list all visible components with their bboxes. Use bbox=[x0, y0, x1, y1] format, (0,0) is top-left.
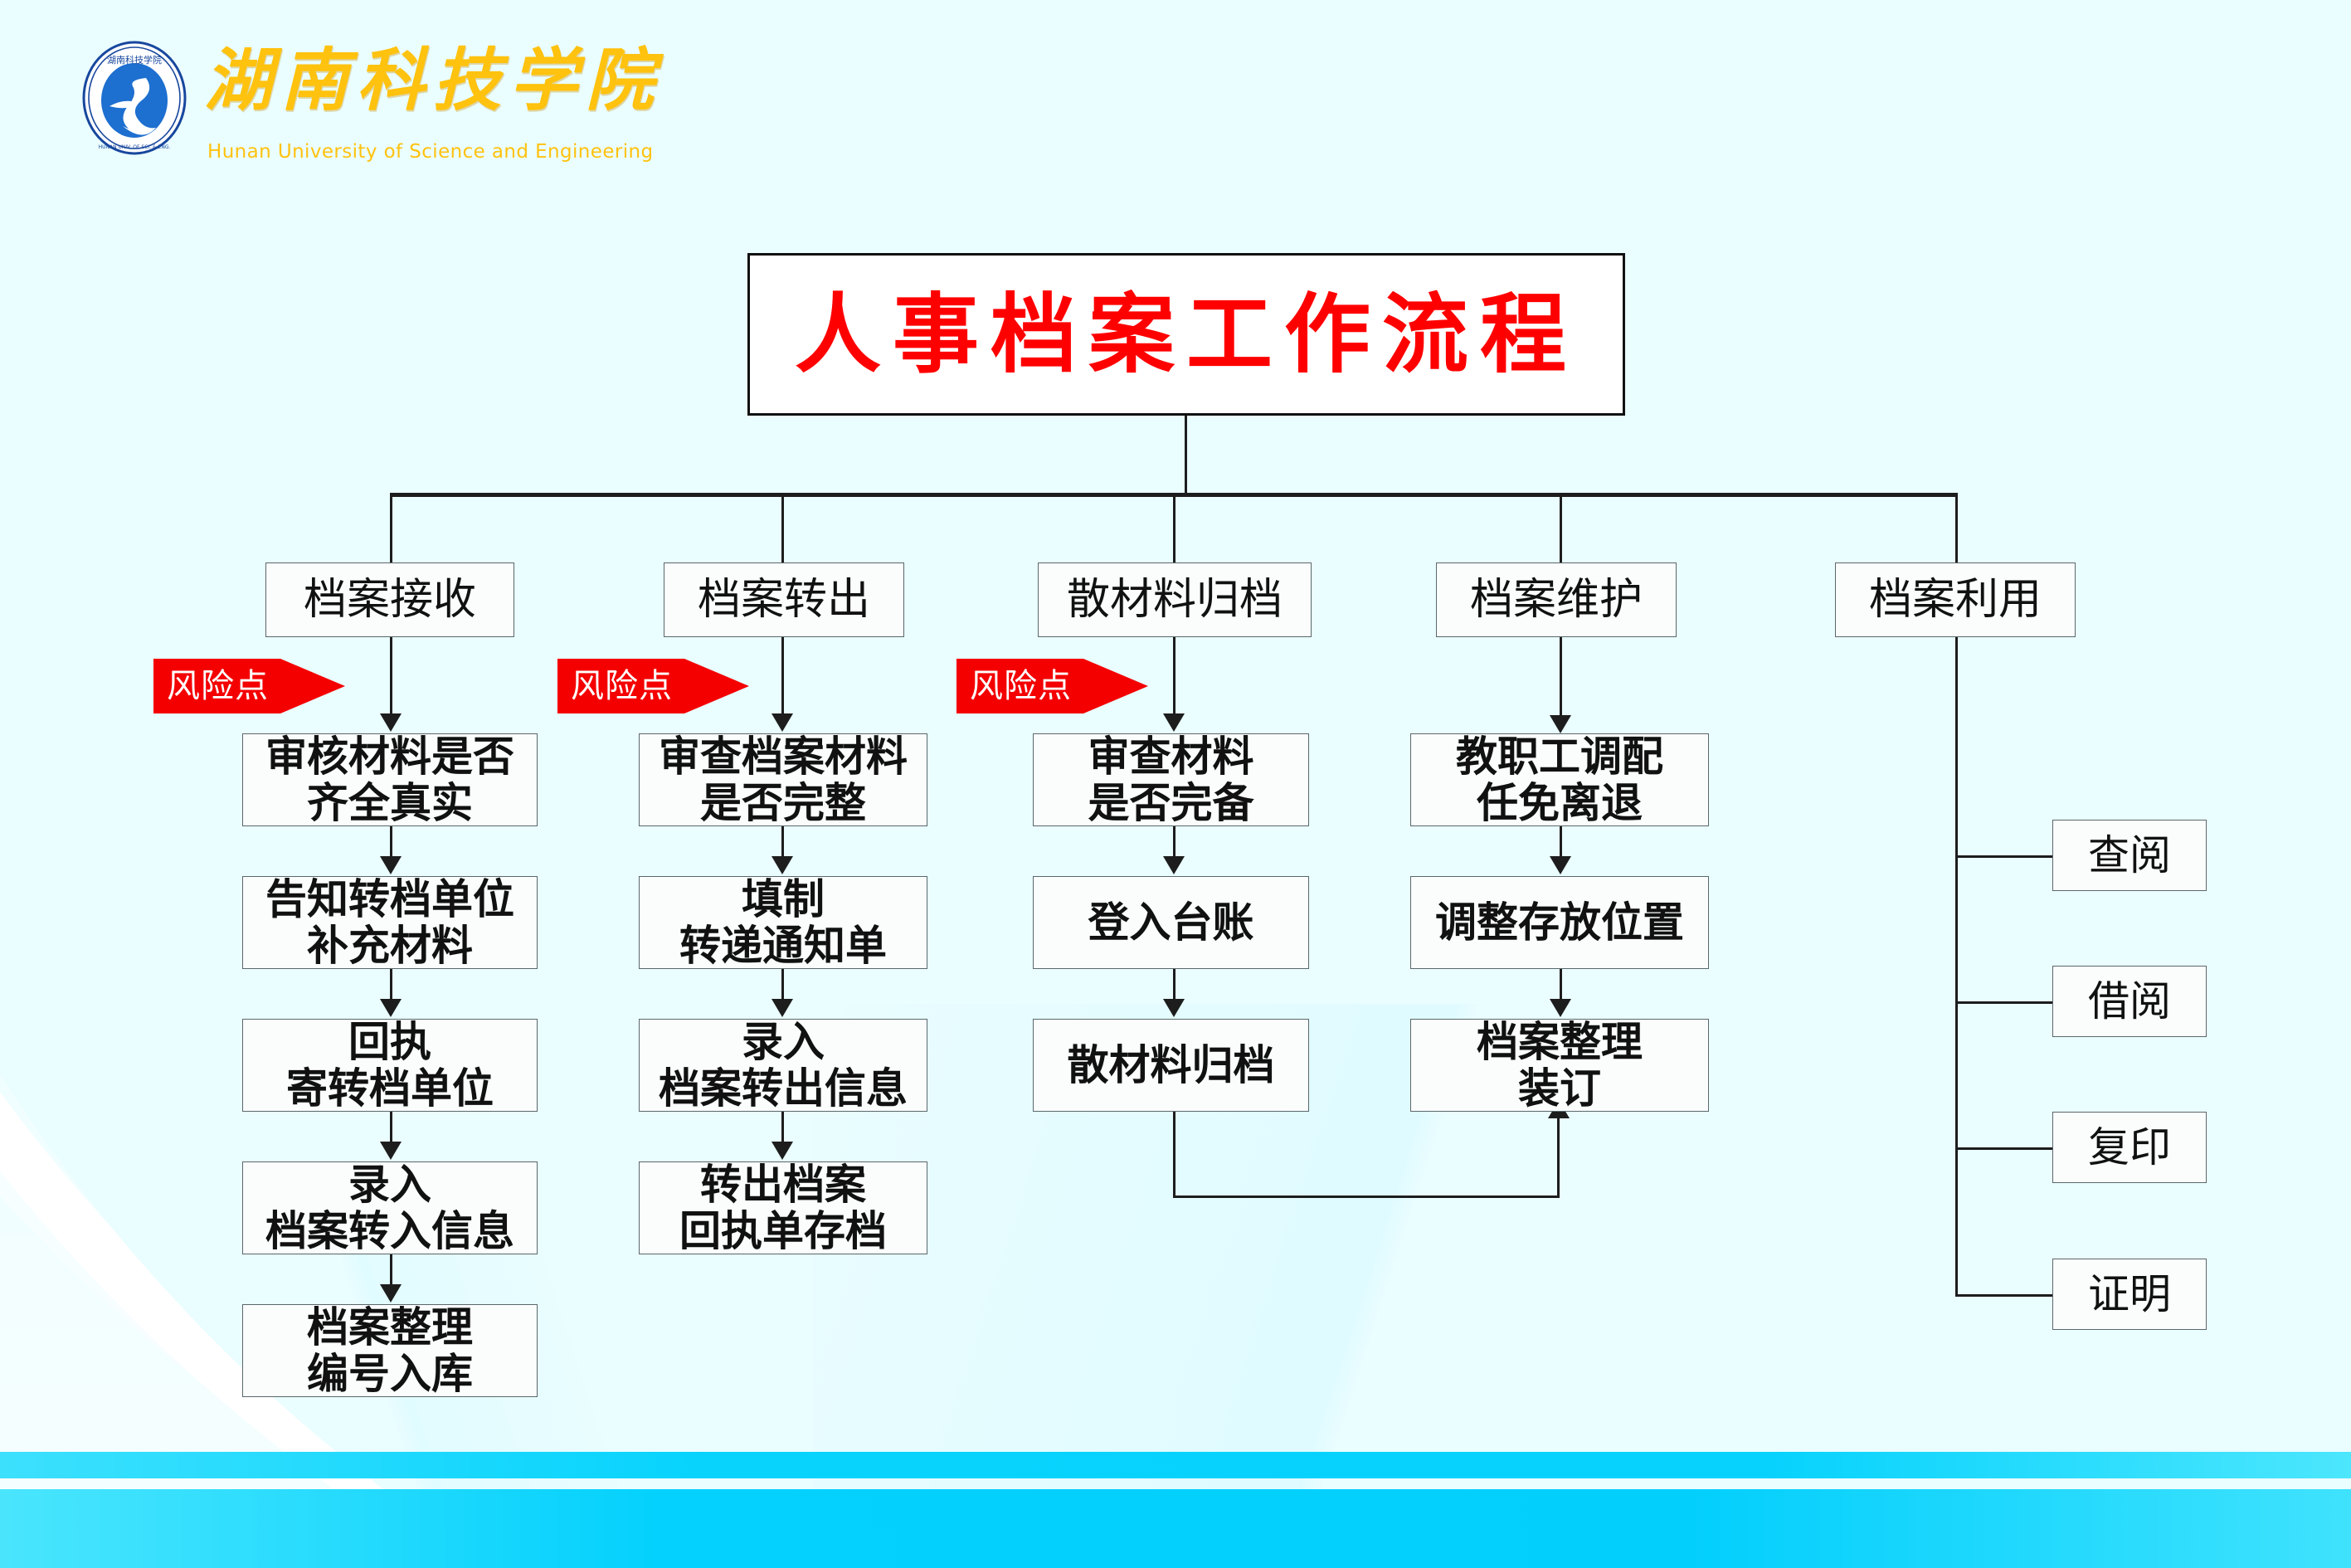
category-label: 档案接收 bbox=[304, 576, 476, 624]
arrow-icon bbox=[380, 1284, 402, 1303]
step-c1-1[interactable]: 审核材料是否 齐全真实 bbox=[242, 733, 538, 826]
step-c3-3[interactable]: 散材料归档 bbox=[1033, 1019, 1309, 1112]
step-c1-3[interactable]: 回执 寄转档单位 bbox=[242, 1019, 538, 1112]
step-c5-borrow[interactable]: 借阅 bbox=[2052, 966, 2207, 1037]
step-label: 审查材料 是否完备 bbox=[1088, 733, 1254, 826]
category-label: 散材料归档 bbox=[1067, 576, 1283, 624]
arrow-icon bbox=[771, 856, 793, 874]
arrow-icon bbox=[1163, 713, 1185, 732]
category-label: 档案维护 bbox=[1470, 576, 1643, 624]
step-c2-4[interactable]: 转出档案 回执单存档 bbox=[639, 1161, 927, 1254]
step-c5-certify[interactable]: 证明 bbox=[2052, 1259, 2207, 1330]
step-label: 复印 bbox=[2088, 1124, 2171, 1171]
page-title: 人事档案工作流程 bbox=[747, 253, 1625, 416]
risk-flag-label: 风险点 bbox=[571, 670, 673, 703]
step-c2-3[interactable]: 录入 档案转出信息 bbox=[639, 1019, 927, 1112]
arrow-icon bbox=[771, 1142, 793, 1160]
arrow-icon bbox=[380, 999, 402, 1017]
risk-flag-arrow-icon bbox=[280, 659, 345, 713]
step-c1-2[interactable]: 告知转档单位 补充材料 bbox=[242, 876, 538, 969]
step-c5-copy[interactable]: 复印 bbox=[2052, 1112, 2207, 1183]
risk-flag-1: 风险点 bbox=[153, 659, 345, 713]
connector-c5-branch-1 bbox=[1955, 855, 2054, 858]
category-label: 档案转出 bbox=[698, 576, 870, 624]
step-label: 档案整理 编号入库 bbox=[307, 1304, 473, 1397]
step-label: 审查档案材料 是否完整 bbox=[659, 733, 908, 826]
category-box-loose-material-filing[interactable]: 散材料归档 bbox=[1038, 562, 1312, 637]
step-c5-consult[interactable]: 查阅 bbox=[2052, 820, 2207, 891]
connector-merge-down bbox=[1173, 1112, 1175, 1198]
step-c4-3[interactable]: 档案整理 装订 bbox=[1410, 1019, 1709, 1112]
connector-drop-5 bbox=[1955, 493, 1958, 564]
category-box-archive-receive[interactable]: 档案接收 bbox=[265, 562, 514, 637]
connector-drop-1 bbox=[390, 493, 392, 564]
category-label: 档案利用 bbox=[1869, 576, 2042, 624]
connector-drop-4 bbox=[1560, 493, 1562, 564]
step-c1-5[interactable]: 档案整理 编号入库 bbox=[242, 1304, 538, 1397]
connector-c5-trunk bbox=[1955, 637, 1958, 1297]
connector-c3-a bbox=[1173, 637, 1175, 725]
connector-merge-up bbox=[1557, 1118, 1560, 1198]
connector-c5-branch-3 bbox=[1955, 1147, 2054, 1150]
connector-c5-branch-4 bbox=[1955, 1294, 2054, 1297]
step-label: 审核材料是否 齐全真实 bbox=[265, 733, 514, 826]
connector-c2-a bbox=[781, 637, 784, 725]
poster-canvas: 湖南科技学院 HUNAN UNIV. OF SCI. & ENG. 湖南科技学院… bbox=[0, 0, 2351, 1568]
connector-merge-across bbox=[1173, 1195, 1560, 1198]
category-box-archive-utilization[interactable]: 档案利用 bbox=[1835, 562, 2076, 637]
step-label: 转出档案 回执单存档 bbox=[679, 1161, 887, 1254]
risk-flag-arrow-icon bbox=[684, 659, 749, 713]
risk-flag-label: 风险点 bbox=[970, 670, 1072, 703]
step-c3-2[interactable]: 登入台账 bbox=[1033, 876, 1309, 969]
step-c4-1[interactable]: 教职工调配 任免离退 bbox=[1410, 733, 1709, 826]
step-label: 查阅 bbox=[2088, 832, 2171, 879]
connector-c1-a bbox=[390, 637, 392, 725]
arrow-icon bbox=[771, 999, 793, 1017]
arrow-icon bbox=[1550, 856, 1571, 874]
page-title-text: 人事档案工作流程 bbox=[795, 289, 1578, 379]
step-label: 告知转档单位 补充材料 bbox=[265, 876, 514, 969]
arrow-icon bbox=[380, 856, 402, 874]
step-label: 借阅 bbox=[2088, 978, 2171, 1025]
risk-flag-arrow-icon bbox=[1083, 659, 1148, 713]
step-label: 录入 档案转入信息 bbox=[265, 1161, 514, 1254]
step-c2-2[interactable]: 填制 转递通知单 bbox=[639, 876, 927, 969]
step-c2-1[interactable]: 审查档案材料 是否完整 bbox=[639, 733, 927, 826]
step-label: 证明 bbox=[2088, 1271, 2171, 1317]
connector-drop-2 bbox=[781, 493, 784, 564]
step-label: 填制 转递通知单 bbox=[679, 876, 887, 969]
arrow-icon bbox=[1550, 715, 1571, 733]
risk-flag-2: 风险点 bbox=[557, 659, 749, 713]
arrow-icon bbox=[380, 1142, 402, 1160]
arrow-icon bbox=[380, 713, 402, 732]
step-c4-2[interactable]: 调整存放位置 bbox=[1410, 876, 1709, 969]
risk-flag-label: 风险点 bbox=[167, 670, 269, 703]
step-c3-1[interactable]: 审查材料 是否完备 bbox=[1033, 733, 1309, 826]
risk-flag-3: 风险点 bbox=[956, 659, 1148, 713]
arrow-icon bbox=[1550, 999, 1571, 1017]
step-label: 教职工调配 任免离退 bbox=[1456, 733, 1663, 826]
category-box-archive-transfer-out[interactable]: 档案转出 bbox=[664, 562, 904, 637]
connector-drop-3 bbox=[1173, 493, 1175, 564]
connector-c5-branch-2 bbox=[1955, 1001, 2054, 1004]
arrow-icon bbox=[1163, 856, 1185, 874]
arrow-icon bbox=[1163, 999, 1185, 1017]
step-label: 档案整理 装订 bbox=[1477, 1019, 1643, 1112]
step-label: 录入 档案转出信息 bbox=[659, 1019, 908, 1112]
step-label: 调整存放位置 bbox=[1435, 899, 1684, 946]
step-c1-4[interactable]: 录入 档案转入信息 bbox=[242, 1161, 538, 1254]
step-label: 登入台账 bbox=[1088, 899, 1254, 946]
category-box-archive-maintenance[interactable]: 档案维护 bbox=[1436, 562, 1677, 637]
step-label: 回执 寄转档单位 bbox=[286, 1019, 494, 1112]
connector-title-stem bbox=[1185, 416, 1187, 494]
arrow-icon bbox=[771, 713, 793, 732]
flowchart: 人事档案工作流程 档案接收 档案转出 散材料归档 档案维护 档案利用 风险点 风… bbox=[0, 0, 2351, 1568]
step-label: 散材料归档 bbox=[1068, 1042, 1275, 1088]
